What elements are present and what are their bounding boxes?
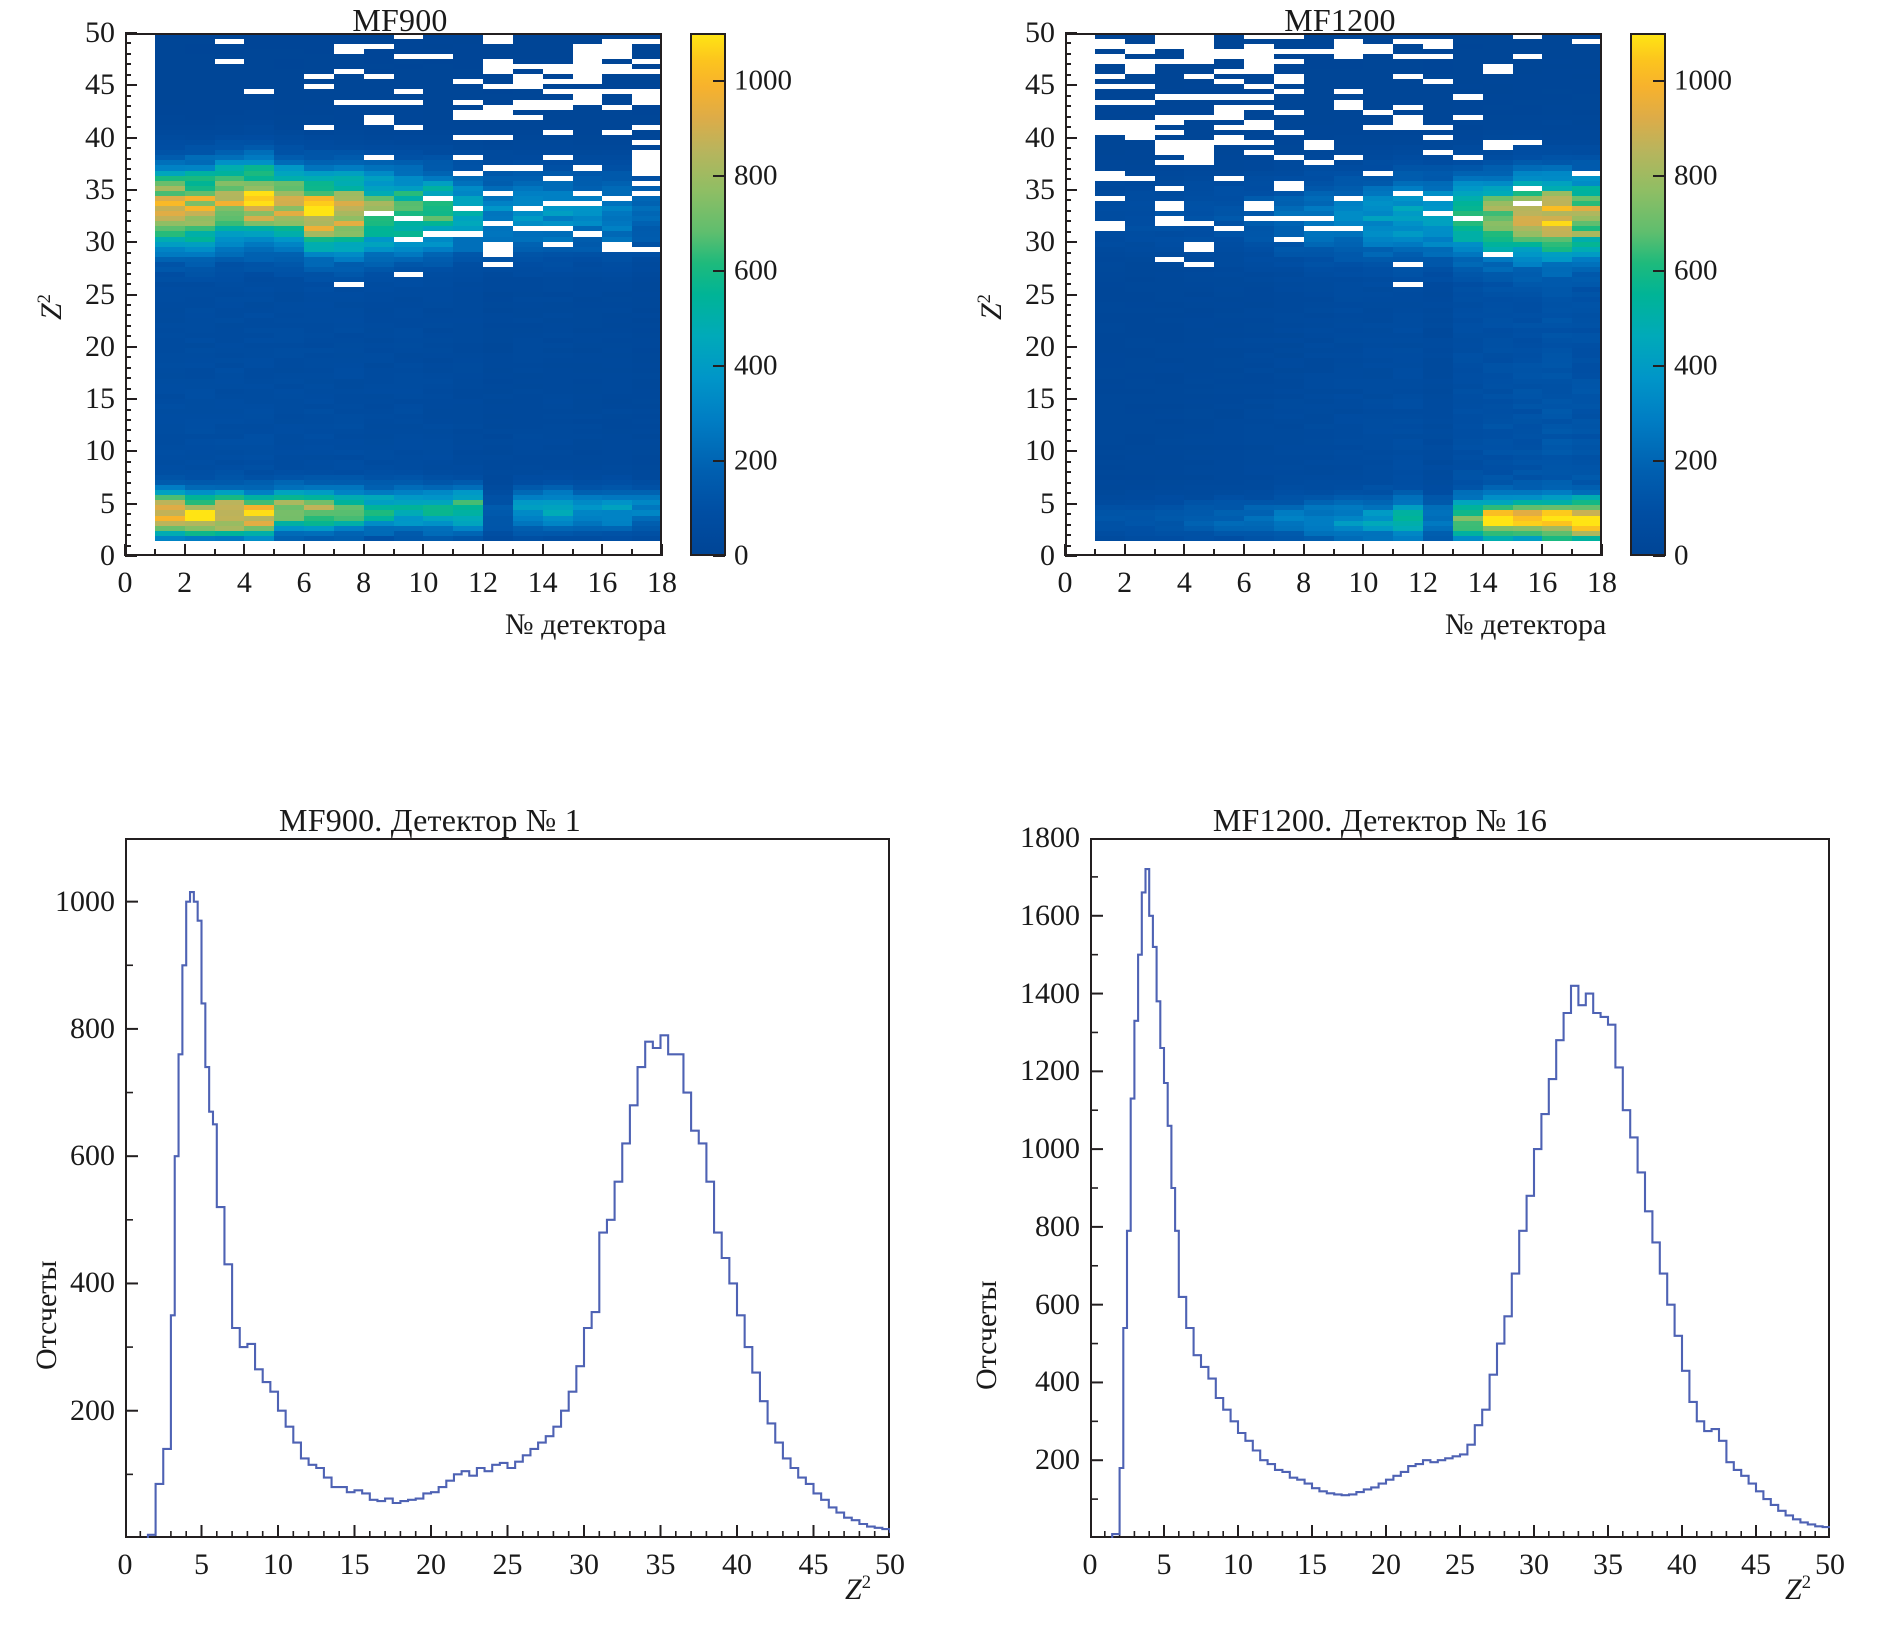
heatmap-cell (155, 510, 185, 516)
heatmap-cell (1513, 530, 1543, 536)
heatmap-cell (513, 358, 543, 364)
heatmap-cell (215, 63, 245, 69)
heatmap-cell (1155, 129, 1185, 135)
heatmap-cell (215, 520, 245, 526)
heatmap-cell (215, 434, 245, 440)
heatmap-cell (1125, 155, 1155, 161)
heatmap-cell (632, 398, 662, 404)
heatmap-cell (1125, 119, 1155, 125)
heatmap-cell (1095, 63, 1125, 69)
heatmap-cell (632, 485, 662, 491)
heatmap-cell (1513, 322, 1543, 328)
heatmap-cell (1274, 353, 1304, 359)
heatmap-cell (185, 114, 215, 120)
ytick-label: 30 (1003, 225, 1055, 259)
heatmap-cell (1214, 266, 1244, 272)
heatmap-cell (1513, 84, 1543, 90)
heatmap-cell (1423, 241, 1453, 247)
heatmap-cell (573, 358, 603, 364)
heatmap-cell (1334, 200, 1364, 206)
heatmap-cell (1393, 165, 1423, 171)
heatmap-cell (1513, 307, 1543, 313)
heatmap-cell (543, 297, 573, 303)
heatmap-cell (1274, 94, 1304, 100)
heatmap-cell (364, 474, 394, 480)
heatmap-cell (1334, 332, 1364, 338)
heatmap-cell (1423, 74, 1453, 80)
heatmap-cell (1393, 307, 1423, 313)
heatmap-cell (1363, 256, 1393, 262)
heatmap-cell (1274, 241, 1304, 247)
heatmap-cell (1244, 429, 1274, 435)
heatmap-cell (155, 155, 185, 161)
heatmap-cell (1155, 434, 1185, 440)
heatmap-cell (185, 337, 215, 343)
heatmap-cell (1125, 510, 1155, 516)
heatmap-cell (1513, 79, 1543, 85)
heatmap-cell (543, 403, 573, 409)
heatmap-cell (1095, 277, 1125, 283)
heatmap-cell (1125, 170, 1155, 176)
heatmap-cell (1184, 464, 1214, 470)
heatmap-cell (1483, 231, 1513, 237)
heatmap-cell (334, 292, 364, 298)
heatmap-cell (304, 205, 334, 211)
heatmap-cell (632, 505, 662, 511)
heatmap-cell (423, 474, 453, 480)
heatmap-cell (364, 363, 394, 369)
heatmap-cell (1125, 342, 1155, 348)
heatmap-cell (1244, 246, 1274, 252)
heatmap-cell (513, 69, 543, 75)
heatmap-cell (1334, 302, 1364, 308)
xtick-label: 30 (569, 1548, 599, 1582)
heatmap-cell (1334, 94, 1364, 100)
heatmap-cell (602, 363, 632, 369)
heatmap-cell (1095, 398, 1125, 404)
heatmap-cell (274, 439, 304, 445)
heatmap-cell (1513, 69, 1543, 75)
heatmap-cell (1542, 94, 1572, 100)
ytick-label: 5 (63, 487, 115, 521)
heatmap-cell (274, 292, 304, 298)
heatmap-cell (334, 337, 364, 343)
heatmap-cell (244, 261, 274, 267)
heatmap-cell (1483, 464, 1513, 470)
heatmap-cell (1423, 530, 1453, 536)
heatmap-cell (1423, 287, 1453, 293)
heatmap-cell (155, 358, 185, 364)
heatmap-cell (1304, 205, 1334, 211)
heatmap-cell (453, 145, 483, 151)
heatmap-cell (334, 312, 364, 318)
heatmap-cell (1214, 38, 1244, 44)
colorbar-label: 600 (1674, 254, 1718, 287)
heatmap-cell (1513, 74, 1543, 80)
heatmap-cell (1513, 373, 1543, 379)
panel-heatmap-mf900: MF900 Z2 № детектора 0246810121416180510… (0, 0, 940, 660)
heatmap-cell (155, 114, 185, 120)
heatmap-cell (1513, 358, 1543, 364)
heatmap-cell (543, 434, 573, 440)
heatmap-cell (334, 246, 364, 252)
heatmap-cell (1393, 312, 1423, 318)
heatmap-cell (1304, 63, 1334, 69)
heatmap-cell (244, 505, 274, 511)
heatmap-cell (1363, 393, 1393, 399)
heatmap-cell (602, 236, 632, 242)
heatmap-cell (1363, 297, 1393, 303)
heatmap-cell (244, 393, 274, 399)
heatmap-cell (1095, 485, 1125, 491)
heatmap-cell (1363, 180, 1393, 186)
heatmap-cell (244, 271, 274, 277)
heatmap-cell (1155, 251, 1185, 257)
heatmap-cell (423, 180, 453, 186)
heatmap-cell (1334, 424, 1364, 430)
heatmap-cell (1453, 231, 1483, 237)
heatmap-cell (215, 266, 245, 272)
heatmap-cell (483, 337, 513, 343)
heatmap-cell (215, 398, 245, 404)
heatmap-cell (602, 190, 632, 196)
heatmap-cell (1423, 373, 1453, 379)
heatmap-cell (602, 373, 632, 379)
heatmap-cell (1155, 140, 1185, 146)
heatmap-cell (573, 424, 603, 430)
heatmap-cell (1542, 358, 1572, 364)
heatmap-cell (1453, 353, 1483, 359)
heatmap-cell (244, 84, 274, 90)
heatmap-cell (1363, 469, 1393, 475)
heatmap-cell (1483, 398, 1513, 404)
heatmap-cell (274, 241, 304, 247)
heatmap-cell (185, 297, 215, 303)
heatmap-cell (1244, 439, 1274, 445)
colorbar-label: 200 (1674, 444, 1718, 477)
heatmap-cell (1542, 485, 1572, 491)
heatmap-cell (543, 479, 573, 485)
heatmap-cell (334, 140, 364, 146)
heatmap-cell (1184, 43, 1214, 49)
heatmap-cell (1184, 48, 1214, 54)
heatmap-cell (215, 525, 245, 531)
ytick-mark (1065, 346, 1077, 348)
heatmap-cell (483, 180, 513, 186)
heatmap-cell (1334, 165, 1364, 171)
xtick-label: 10 (1348, 566, 1378, 600)
heatmap-cell (364, 510, 394, 516)
heatmap-cell (1483, 287, 1513, 293)
heatmap-cell (1393, 211, 1423, 217)
heatmap-cell (1274, 43, 1304, 49)
heatmap-cell (1184, 150, 1214, 156)
heatmap-cell (274, 403, 304, 409)
heatmap-cell (602, 33, 632, 39)
heatmap-cell (453, 140, 483, 146)
heatmap-cell (1572, 175, 1602, 181)
heatmap-cell (244, 185, 274, 191)
heatmap-cell (1214, 459, 1244, 465)
heatmap-cell (513, 256, 543, 262)
heatmap-cell (1274, 358, 1304, 364)
heatmap-cell (334, 200, 364, 206)
heatmap-cell (483, 129, 513, 135)
heatmap-cell (244, 510, 274, 516)
heatmap-cell (1513, 332, 1543, 338)
heatmap-cell (1184, 38, 1214, 44)
heatmap-cell (1095, 297, 1125, 303)
heatmap-cell (1214, 124, 1244, 130)
heatmap-cell (632, 413, 662, 419)
heatmap-cell (1393, 69, 1423, 75)
heatmap-cell (1155, 312, 1185, 318)
heatmap-cell (1155, 119, 1185, 125)
heatmap-cell (1513, 282, 1543, 288)
heatmap-cell (274, 140, 304, 146)
ytick-minor (125, 429, 131, 431)
heatmap-cell (1363, 525, 1393, 531)
heatmap-cell (1095, 185, 1125, 191)
heatmap-cell (1483, 33, 1513, 39)
heatmap-cell (334, 378, 364, 384)
heatmap-cell (1393, 33, 1423, 39)
xtick-label: 40 (722, 1548, 752, 1582)
heatmap-cell (1155, 454, 1185, 460)
heatmap-cell (513, 520, 543, 526)
heatmap-cell (543, 419, 573, 425)
heatmap-cell (274, 353, 304, 359)
heatmap-cell (1095, 48, 1125, 54)
heatmap-cell (364, 58, 394, 64)
heatmap-cell (274, 302, 304, 308)
heatmap-cell (155, 94, 185, 100)
heatmap-cell (1244, 505, 1274, 511)
heatmap-cell (1572, 43, 1602, 49)
heatmap-cell (1513, 454, 1543, 460)
heatmap-cell (334, 525, 364, 531)
heatmap-cell (453, 221, 483, 227)
ytick-minor (1065, 367, 1071, 369)
heatmap-cell (364, 69, 394, 75)
heatmap-cell (632, 104, 662, 110)
heatmap-cell (1244, 373, 1274, 379)
heatmap-cell (215, 104, 245, 110)
heatmap-cell (1095, 307, 1125, 313)
xtick-label: 45 (799, 1548, 829, 1582)
heatmap-cell (513, 429, 543, 435)
heatmap-cell (1453, 419, 1483, 425)
heatmap-cell (1334, 261, 1364, 267)
heatmap-cell (1423, 424, 1453, 430)
heatmap-cell (1363, 322, 1393, 328)
heatmap-cell (274, 277, 304, 283)
heatmap-cell (1274, 505, 1304, 511)
heatmap-cell (244, 129, 274, 135)
heatmap-cell (364, 439, 394, 445)
heatmap-cell (1304, 530, 1334, 536)
heatmap-cell (1155, 297, 1185, 303)
heatmap-cell (1542, 33, 1572, 39)
heatmap-cell (394, 200, 424, 206)
heatmap-cell (1304, 185, 1334, 191)
heatmap-cell (1125, 256, 1155, 262)
heatmap-cell (1125, 160, 1155, 166)
heatmap-cell (274, 464, 304, 470)
heatmap-cell (1334, 190, 1364, 196)
heatmap-cell (364, 424, 394, 430)
heatmap-cell (453, 292, 483, 298)
heatmap-cell (334, 464, 364, 470)
heatmap-cell (185, 474, 215, 480)
heatmap-cell (483, 525, 513, 531)
heatmap-cell (394, 403, 424, 409)
heatmap-cell (602, 175, 632, 181)
heatmap-cell (274, 490, 304, 496)
heatmap-cell (1274, 150, 1304, 156)
heatmap-cell (1125, 221, 1155, 227)
heatmap-cell (304, 424, 334, 430)
heatmap-cell (632, 327, 662, 333)
heatmap-cell (1155, 170, 1185, 176)
ytick-minor (125, 273, 131, 275)
heatmap-cell (1214, 94, 1244, 100)
heatmap-cell (304, 332, 334, 338)
heatmap-cell (1125, 129, 1155, 135)
heatmap-cell (1334, 454, 1364, 460)
heatmap-cell (1334, 140, 1364, 146)
heatmap-cell (483, 190, 513, 196)
heatmap-cell (1542, 74, 1572, 80)
heatmap-cell (632, 221, 662, 227)
heatmap-cell (483, 398, 513, 404)
heatmap-cell (1423, 94, 1453, 100)
heatmap-cell (1125, 322, 1155, 328)
heatmap-cell (1214, 200, 1244, 206)
heatmap-cell (334, 48, 364, 54)
heatmap-cell (453, 535, 483, 541)
heatmap-cell (1423, 145, 1453, 151)
heatmap-cell (1572, 429, 1602, 435)
heatmap-cell (423, 79, 453, 85)
heatmap-cell (1363, 200, 1393, 206)
heatmap-cell (1334, 373, 1364, 379)
ytick-mark (1065, 84, 1077, 86)
heatmap-cell (602, 256, 632, 262)
heatmap-cell (304, 368, 334, 374)
heatmap-cell (1363, 205, 1393, 211)
heatmap-cell (364, 297, 394, 303)
heatmap-cell (632, 474, 662, 480)
heatmap-cell (483, 48, 513, 54)
heatmap-cell (1363, 408, 1393, 414)
heatmap-cell (1155, 94, 1185, 100)
heatmap-cell (632, 383, 662, 389)
heatmap-cell (1095, 459, 1125, 465)
heatmap-cell (215, 353, 245, 359)
heatmap-cell (155, 474, 185, 480)
heatmap-cell (423, 292, 453, 298)
heatmap-cell (1363, 434, 1393, 440)
heatmap-cell (1513, 353, 1543, 359)
heatmap-cell (632, 205, 662, 211)
heatmap-cell (1423, 180, 1453, 186)
heatmap-cell (394, 388, 424, 394)
heatmap-cell (274, 226, 304, 232)
heatmap-cell (513, 317, 543, 323)
heatmap-cell (602, 495, 632, 501)
heatmap-cell (423, 231, 453, 237)
heatmap-cell (1155, 216, 1185, 222)
heatmap-cell (185, 58, 215, 64)
heatmap-cell (453, 256, 483, 262)
heatmap-cell (1214, 454, 1244, 460)
heatmap-cell (602, 424, 632, 430)
heatmap-cell (483, 419, 513, 425)
heatmap-cell (1572, 79, 1602, 85)
heatmap-cell (1304, 155, 1334, 161)
heatmap-cell (155, 342, 185, 348)
xtick-label: 6 (297, 566, 312, 600)
heatmap-cell (215, 317, 245, 323)
heatmap-cell (185, 170, 215, 176)
heatmap-cell (1483, 439, 1513, 445)
heatmap-cell (155, 211, 185, 217)
heatmap-cell (394, 408, 424, 414)
heatmap-cell (423, 332, 453, 338)
heatmap-cell (1483, 246, 1513, 252)
heatmap-cell (513, 251, 543, 257)
heatmap-cell (274, 469, 304, 475)
heatmap-cell (155, 464, 185, 470)
heatmap-cell (513, 124, 543, 130)
heatmap-cell (185, 129, 215, 135)
heatmap-cell (1274, 444, 1304, 450)
heatmap-cell (1453, 444, 1483, 450)
heatmap-cell (185, 378, 215, 384)
xtick-label: 16 (587, 566, 617, 600)
heatmap-cell (185, 353, 215, 359)
heatmap-cell (1125, 58, 1155, 64)
heatmap-cell (1453, 79, 1483, 85)
heatmap-cell (632, 58, 662, 64)
heatmap-cell (1453, 53, 1483, 59)
heatmap-cell (1125, 99, 1155, 105)
heatmap-cell (1095, 327, 1125, 333)
heatmap-cell (1453, 530, 1483, 536)
heatmap-cell (1184, 155, 1214, 161)
heatmap-cell (602, 271, 632, 277)
heatmap-cell (1304, 236, 1334, 242)
heatmap-cell (394, 89, 424, 95)
heatmap-cell (155, 124, 185, 130)
heatmap-cell (1125, 287, 1155, 293)
heatmap-cell (394, 211, 424, 217)
heatmap-cell (1483, 266, 1513, 272)
heatmap-cell (1453, 393, 1483, 399)
heatmap-cell (483, 261, 513, 267)
heatmap-cell (244, 63, 274, 69)
heatmap-cell (215, 180, 245, 186)
heatmap-cell (274, 424, 304, 430)
heatmap-cell (1542, 469, 1572, 475)
heatmap-cell (1483, 175, 1513, 181)
heatmap-cell (632, 287, 662, 293)
heatmap-cell (1483, 160, 1513, 166)
heatmap-cell (334, 388, 364, 394)
heatmap-cell (632, 282, 662, 288)
heatmap-cell (1184, 271, 1214, 277)
